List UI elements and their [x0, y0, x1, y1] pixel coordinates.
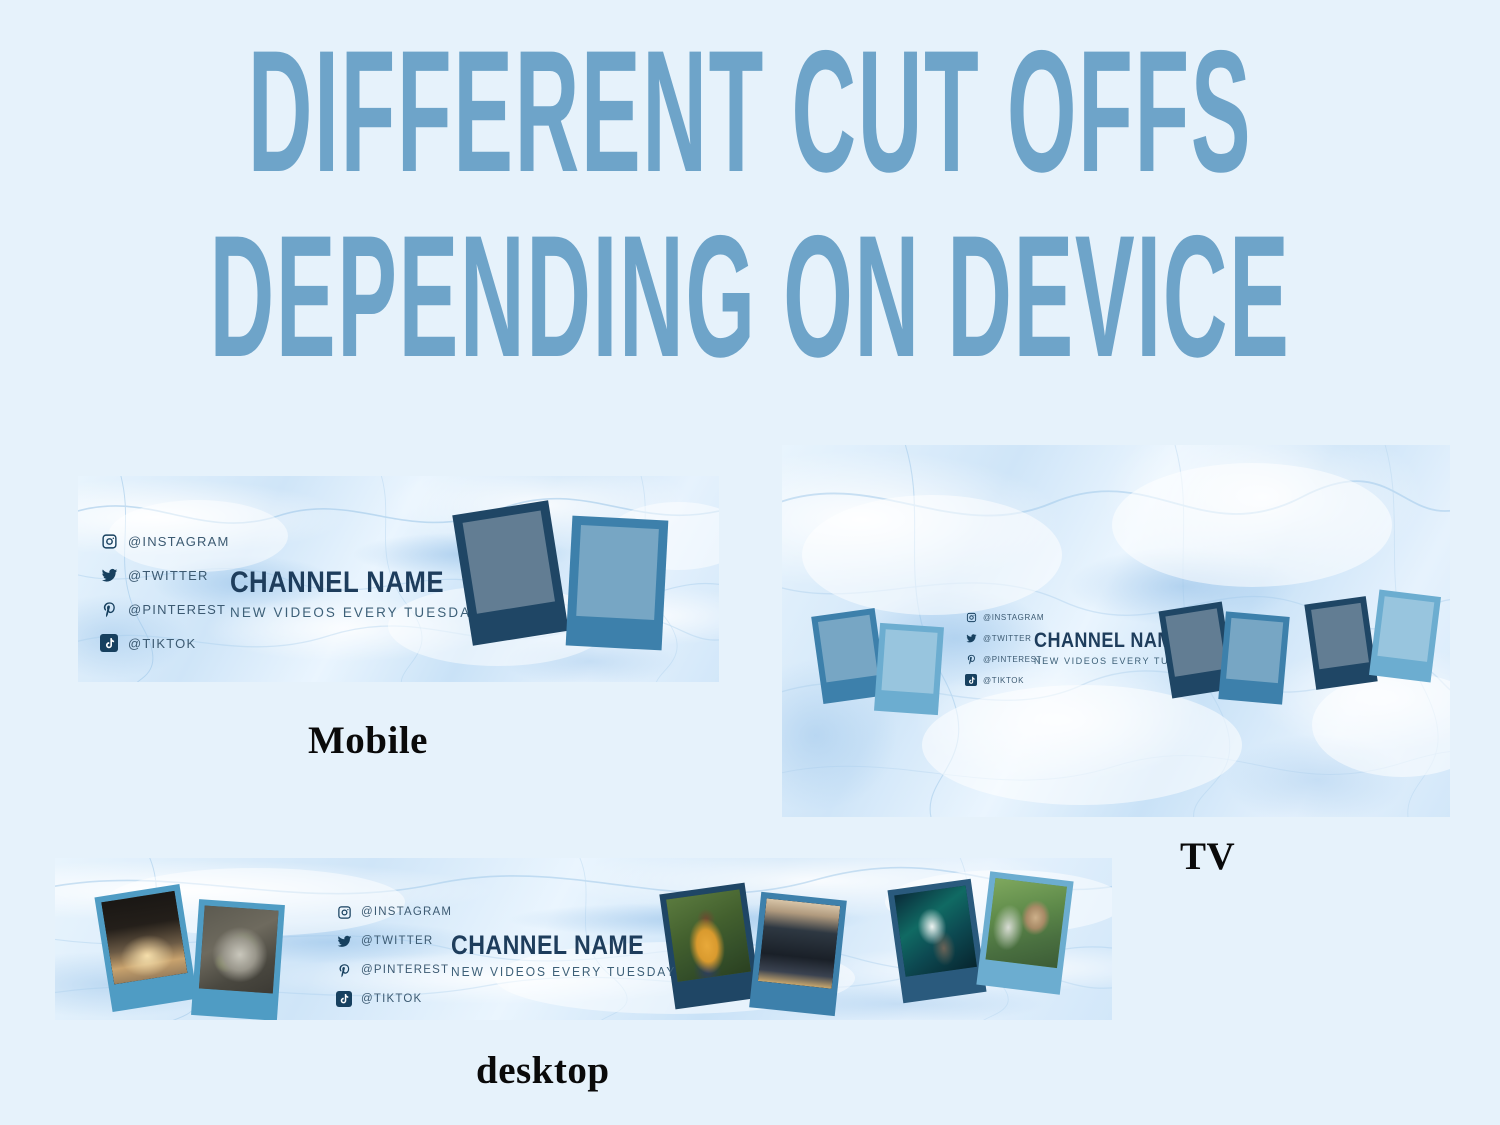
social-handle-instagram: @INSTAGRAM [361, 906, 452, 918]
social-row-twitter[interactable]: @TWITTER [965, 632, 1044, 644]
tiktok-icon [965, 674, 977, 686]
channel-tagline: NEW VIDEOS EVERY TUESDAY [230, 604, 481, 620]
polaroid-empty-mid[interactable] [1218, 611, 1289, 704]
polaroid-window [881, 629, 937, 693]
social-row-tiktok[interactable]: @TIKTOK [965, 674, 1044, 686]
polaroid-window [101, 891, 187, 985]
pinterest-icon [965, 653, 977, 665]
photo-food-plate [199, 906, 279, 994]
photo-pug-dog [985, 878, 1066, 968]
polaroid-window [818, 615, 878, 683]
social-handle-tiktok: @TIKTOK [128, 636, 196, 651]
twitter-icon [965, 632, 977, 644]
polaroid-empty-mid[interactable] [566, 516, 669, 651]
social-row-tiktok[interactable]: @TIKTOK [336, 991, 452, 1007]
polaroid-window [1311, 603, 1369, 669]
social-row-tiktok[interactable]: @TIKTOK [100, 634, 230, 652]
headline-text-1: DIFFERENT CUT OFFS [150, 28, 1350, 195]
tiktok-icon [100, 634, 118, 652]
channel-name: CHANNEL NAME [230, 566, 455, 600]
social-row-pinterest[interactable]: @PINTEREST [965, 653, 1044, 665]
social-links-desktop: @INSTAGRAM @TWITTER @PINTEREST @TIKTOK [336, 904, 452, 1007]
social-handle-instagram: @INSTAGRAM [983, 613, 1044, 622]
social-handle-pinterest: @PINTEREST [128, 602, 226, 617]
polaroid-window [463, 511, 555, 614]
photo-pier-underpass [101, 891, 187, 985]
social-handle-tiktok: @TIKTOK [361, 993, 422, 1005]
caption-mobile: Mobile [308, 718, 428, 763]
pinterest-icon [100, 600, 118, 618]
instagram-icon [336, 904, 352, 920]
banner-preview-mobile[interactable]: @INSTAGRAM @TWITTER @PINTEREST @TIKTOK [78, 476, 719, 682]
polaroid-window [576, 525, 659, 620]
social-row-pinterest[interactable]: @PINTEREST [100, 600, 230, 618]
headline-text-2: DEPENDING ON DEVICE [150, 213, 1350, 380]
polaroid-photo-ocean[interactable] [887, 879, 986, 1004]
social-handle-instagram: @INSTAGRAM [128, 534, 230, 549]
polaroid-photo-city[interactable] [749, 892, 847, 1016]
social-handle-twitter: @TWITTER [128, 568, 209, 583]
social-row-pinterest[interactable]: @PINTEREST [336, 962, 452, 978]
caption-tv: TV [1180, 834, 1235, 879]
channel-text-mobile: CHANNEL NAME NEW VIDEOS EVERY TUESDAY [230, 566, 492, 620]
instagram-icon [100, 532, 118, 550]
channel-text-desktop: CHANNEL NAME NEW VIDEOS EVERY TUESDAY [451, 930, 686, 979]
caption-desktop: desktop [476, 1048, 610, 1093]
polaroid-photo-pier[interactable] [94, 884, 197, 1012]
social-handle-twitter: @TWITTER [361, 935, 433, 947]
polaroid-photo-food[interactable] [191, 899, 285, 1020]
polaroid-empty-light[interactable] [874, 623, 944, 715]
social-row-twitter[interactable]: @TWITTER [336, 933, 452, 949]
social-handle-twitter: @TWITTER [983, 634, 1031, 643]
polaroid-window [1226, 618, 1283, 683]
social-row-instagram[interactable]: @INSTAGRAM [336, 904, 452, 920]
instagram-icon [965, 611, 977, 623]
page-title-line-1: DIFFERENT CUT OFFS [0, 58, 1500, 166]
polaroid-window [1377, 596, 1434, 662]
photo-ocean-rocks [894, 885, 977, 976]
polaroid-window [1165, 608, 1226, 676]
polaroid-window [985, 878, 1066, 968]
pinterest-icon [336, 962, 352, 978]
channel-name: CHANNEL NAME [451, 930, 653, 961]
tiktok-icon [336, 991, 352, 1007]
social-row-instagram[interactable]: @INSTAGRAM [100, 532, 230, 550]
polaroid-window [758, 898, 840, 988]
polaroid-window [894, 885, 977, 976]
banner-preview-desktop[interactable]: @INSTAGRAM @TWITTER @PINTEREST @TIKTOK [55, 858, 1112, 1020]
social-handle-tiktok: @TIKTOK [983, 676, 1024, 685]
photo-city-skyline [758, 898, 840, 988]
social-handle-pinterest: @PINTEREST [361, 964, 449, 976]
page-title-line-2: DEPENDING ON DEVICE [0, 243, 1500, 351]
banner-preview-tv[interactable]: @INSTAGRAM @TWITTER @PINTEREST @TIKTOK [782, 445, 1450, 817]
twitter-icon [100, 566, 118, 584]
social-links-tv: @INSTAGRAM @TWITTER @PINTEREST @TIKTOK [965, 611, 1044, 686]
polaroid-empty-light[interactable] [1369, 590, 1441, 683]
social-row-instagram[interactable]: @INSTAGRAM [965, 611, 1044, 623]
social-row-twitter[interactable]: @TWITTER [100, 566, 230, 584]
polaroid-window [199, 906, 279, 994]
social-links-mobile: @INSTAGRAM @TWITTER @PINTEREST @TIKTOK [100, 532, 230, 652]
channel-tagline: NEW VIDEOS EVERY TUESDAY [451, 965, 676, 979]
polaroid-empty-dark[interactable] [1304, 596, 1377, 690]
polaroid-photo-dog[interactable] [976, 871, 1073, 994]
twitter-icon [336, 933, 352, 949]
polaroid-empty-dark[interactable] [452, 500, 568, 646]
poster-canvas: DIFFERENT CUT OFFS DEPENDING ON DEVICE [0, 0, 1500, 1125]
